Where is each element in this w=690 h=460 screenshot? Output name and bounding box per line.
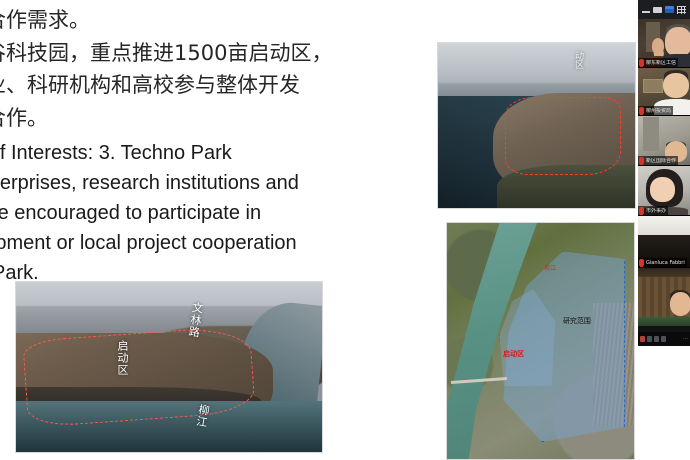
participant-name: 柳州投资局: [646, 108, 671, 114]
participant-tile[interactable]: [638, 268, 690, 326]
muted-microphone-icon: [639, 157, 644, 164]
background-detail: [643, 79, 663, 92]
single-view-icon[interactable]: [653, 7, 662, 13]
muted-microphone-icon: [639, 107, 644, 114]
participant-tile[interactable]: Gianluca Fabbri: [638, 216, 690, 268]
participant-name: 新区国际合作: [646, 158, 676, 164]
participant-tile[interactable]: 柳东新区工信: [638, 19, 690, 68]
participant-name-bar: Gianluca Fabbri: [638, 258, 687, 267]
muted-microphone-icon: [639, 259, 644, 266]
map-label-study-area: 研究范围: [563, 317, 591, 325]
participant-tile[interactable]: 市外事办: [638, 166, 690, 216]
video-view-toolbar[interactable]: [638, 0, 690, 19]
participant-tile[interactable]: 新区国际合作: [638, 116, 690, 166]
shared-slide: 科技园合作需求。 滨江智谷科技园，重点推进1500亩启动区， 欧洲企业、科研机构…: [0, 0, 690, 460]
participant-name: 市外事办: [646, 208, 666, 214]
participant-name-bar: 柳东新区工信: [638, 58, 678, 67]
participant-name-bar: 市外事办: [638, 206, 668, 215]
video-control-bar[interactable]: ···: [638, 332, 690, 346]
participant-name-bar: 柳州投资局: [638, 106, 673, 115]
satellite-plan-map: 研究范围 启动区 柳江: [446, 222, 635, 460]
slide-chinese-line-4: 部项目合作。: [0, 102, 442, 135]
map-label-startup-zone: 动区: [572, 51, 585, 69]
map-label-startup-zone: 启动区: [503, 350, 524, 358]
participant-name: Gianluca Fabbri: [646, 260, 685, 266]
muted-microphone-icon: [639, 207, 644, 214]
minimize-icon[interactable]: [642, 6, 650, 13]
control-button[interactable]: [654, 336, 659, 342]
control-button[interactable]: [647, 336, 652, 342]
record-indicator[interactable]: [640, 336, 645, 342]
slide-chinese-line-2: 滨江智谷科技园，重点推进1500亩启动区，: [0, 37, 442, 70]
control-button[interactable]: [661, 336, 666, 342]
person-head: [652, 38, 664, 54]
background-detail: [638, 317, 690, 326]
map-label-liujiang-river: 柳江: [544, 265, 556, 273]
photo-content: 文林路 启动区 柳江: [16, 282, 322, 452]
participant-name: 柳东新区工信: [646, 60, 676, 66]
person-head: [650, 177, 675, 202]
slide-english-line-4: ll development or local project cooperat…: [0, 228, 442, 258]
background-detail: [638, 268, 690, 277]
slide-english-line-1: eration of Interests: 3. Techno Park: [0, 138, 442, 168]
side-by-side-view-icon[interactable]: [665, 6, 674, 13]
slide-chinese-line-1: 科技园合作需求。: [0, 4, 442, 37]
video-participant-sidebar[interactable]: ⌃ 柳东新区工信 柳州投资局: [638, 0, 690, 346]
background-detail: [643, 117, 659, 151]
person-head: [665, 27, 690, 57]
aerial-photo-startup-zone: 文林路 启动区 柳江: [15, 281, 323, 453]
participant-tile[interactable]: 柳州投资局: [638, 68, 690, 116]
person-head: [670, 292, 690, 315]
photo-content: 动区: [438, 43, 635, 208]
participant-name-bar: 新区国际合作: [638, 156, 678, 165]
slide-english-line-3: rsities are encouraged to participate in: [0, 198, 442, 228]
photo-content: 研究范围 启动区 柳江: [447, 223, 634, 459]
aerial-photo-riverside: 动区: [437, 42, 636, 209]
map-label-liujiang-river: 柳江: [195, 404, 210, 430]
person-head: [663, 73, 689, 98]
muted-microphone-icon: [639, 59, 644, 66]
slide-text-block: 科技园合作需求。 滨江智谷科技园，重点推进1500亩启动区， 欧洲企业、科研机构…: [0, 4, 442, 288]
map-label-startup-zone: 启动区: [117, 340, 128, 376]
slide-chinese-line-3: 欧洲企业、科研机构和高校参与整体开发: [0, 69, 442, 102]
video-feed: [638, 268, 690, 326]
slide-english-line-2: pean enterprises, research institutions …: [0, 168, 442, 198]
background-detail: [638, 216, 690, 236]
gallery-grid-icon[interactable]: [677, 6, 686, 14]
startup-zone-boundary: [505, 97, 621, 175]
more-options-icon[interactable]: ···: [683, 336, 688, 342]
slide-english-block: eration of Interests: 3. Techno Park pea…: [0, 138, 442, 288]
